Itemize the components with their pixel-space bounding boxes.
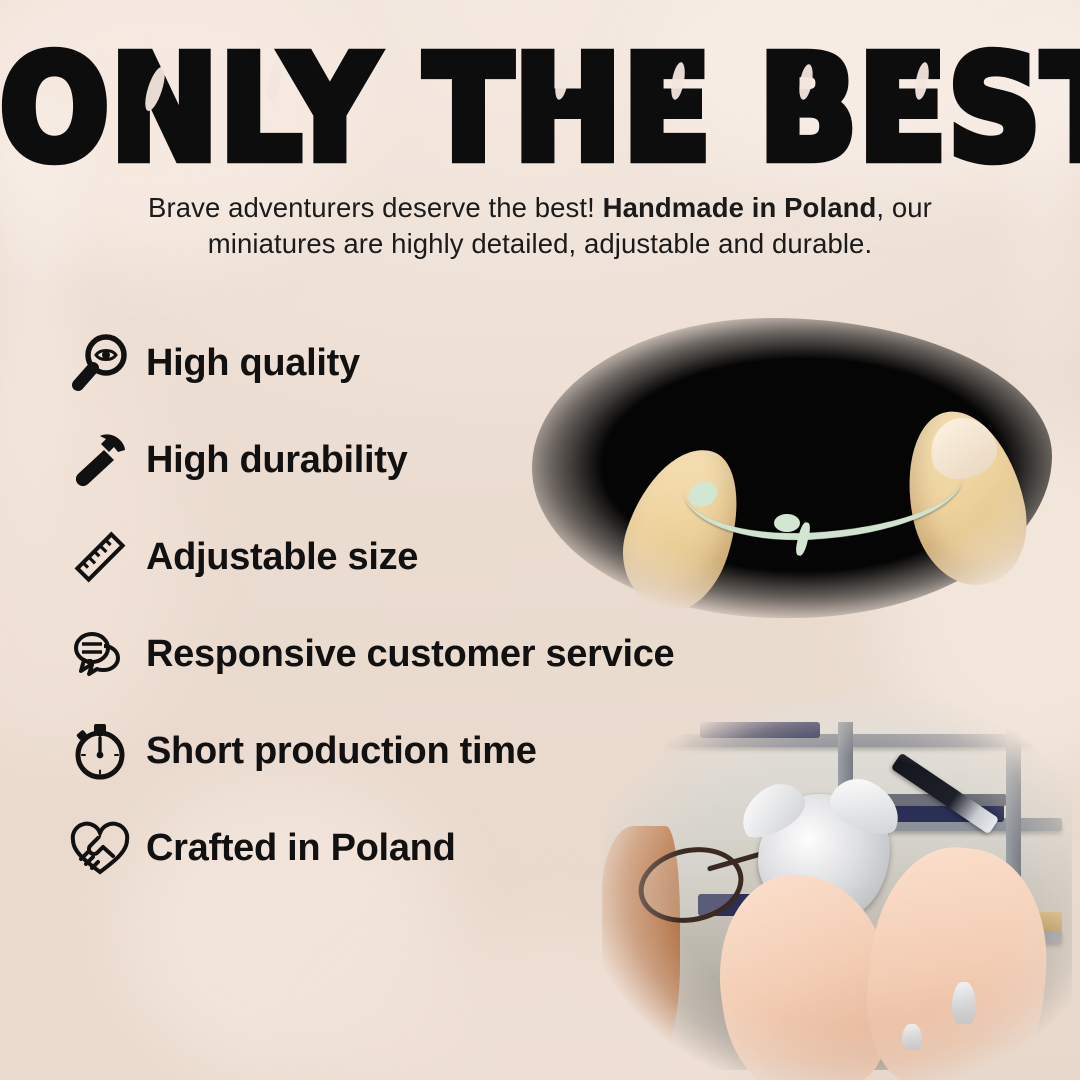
flexible-miniature-photo xyxy=(512,300,1072,630)
feature-label: Responsive customer service xyxy=(146,633,674,676)
subtitle-comma: , xyxy=(876,192,884,223)
workshop-crafting-photo xyxy=(578,688,1080,1080)
feature-label: Adjustable size xyxy=(146,536,418,579)
infographic-canvas: ONLY THE BEST Brave adventurers deserve … xyxy=(0,0,1080,1080)
chat-bubbles-icon xyxy=(62,618,138,690)
hammer-icon xyxy=(62,424,138,496)
feature-label: Short production time xyxy=(146,730,537,773)
subtitle: Brave adventurers deserve the best! Hand… xyxy=(90,190,990,262)
handshake-heart-icon xyxy=(62,812,138,884)
page-title: ONLY THE BEST xyxy=(0,44,1080,176)
stopwatch-icon xyxy=(62,715,138,787)
magnifier-eye-icon xyxy=(62,327,138,399)
subtitle-bold: Handmade in Poland xyxy=(603,192,877,223)
feature-label: High durability xyxy=(146,439,408,482)
feature-label: Crafted in Poland xyxy=(146,827,455,870)
ruler-icon xyxy=(62,521,138,593)
subtitle-lead: Brave adventurers deserve the best! xyxy=(148,192,595,223)
feature-label: High quality xyxy=(146,342,360,385)
